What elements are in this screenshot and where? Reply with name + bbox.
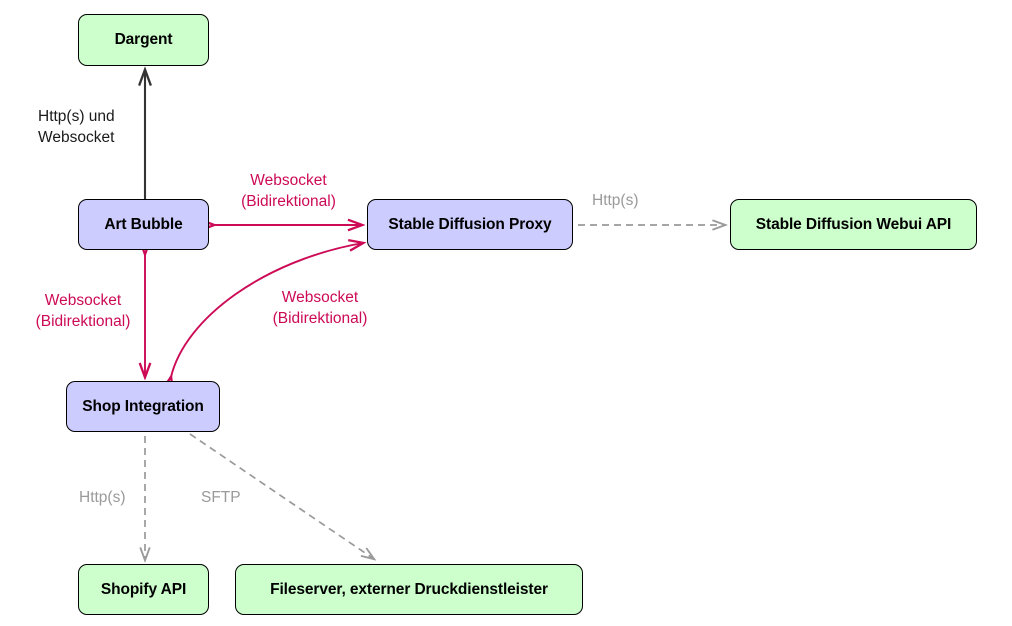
- edge-sd-proxy-to-shop-integration: [171, 243, 363, 377]
- node-label-stable-diffusion-webui-api: Stable Diffusion Webui API: [756, 216, 951, 234]
- node-fileserver[interactable]: Fileserver, externer Druckdienstleister: [235, 564, 583, 615]
- node-label-dargent: Dargent: [115, 31, 173, 49]
- node-label-fileserver: Fileserver, externer Druckdienstleister: [270, 581, 548, 599]
- diagram-connectors: [0, 0, 1012, 626]
- diagram-canvas: Http(s) und Websocket Websocket (Bidirek…: [0, 0, 1012, 626]
- node-label-shop-integration: Shop Integration: [82, 398, 204, 416]
- node-label-stable-diffusion-proxy: Stable Diffusion Proxy: [388, 216, 551, 234]
- node-dargent[interactable]: Dargent: [78, 14, 209, 66]
- node-art-bubble[interactable]: Art Bubble: [78, 199, 209, 250]
- edge-shop-integration-to-fileserver: [190, 434, 374, 559]
- node-label-shopify-api: Shopify API: [101, 581, 186, 599]
- node-label-art-bubble: Art Bubble: [104, 216, 182, 234]
- node-stable-diffusion-webui-api[interactable]: Stable Diffusion Webui API: [730, 199, 977, 250]
- node-shopify-api[interactable]: Shopify API: [78, 564, 209, 615]
- node-stable-diffusion-proxy[interactable]: Stable Diffusion Proxy: [367, 199, 573, 250]
- node-shop-integration[interactable]: Shop Integration: [66, 381, 220, 432]
